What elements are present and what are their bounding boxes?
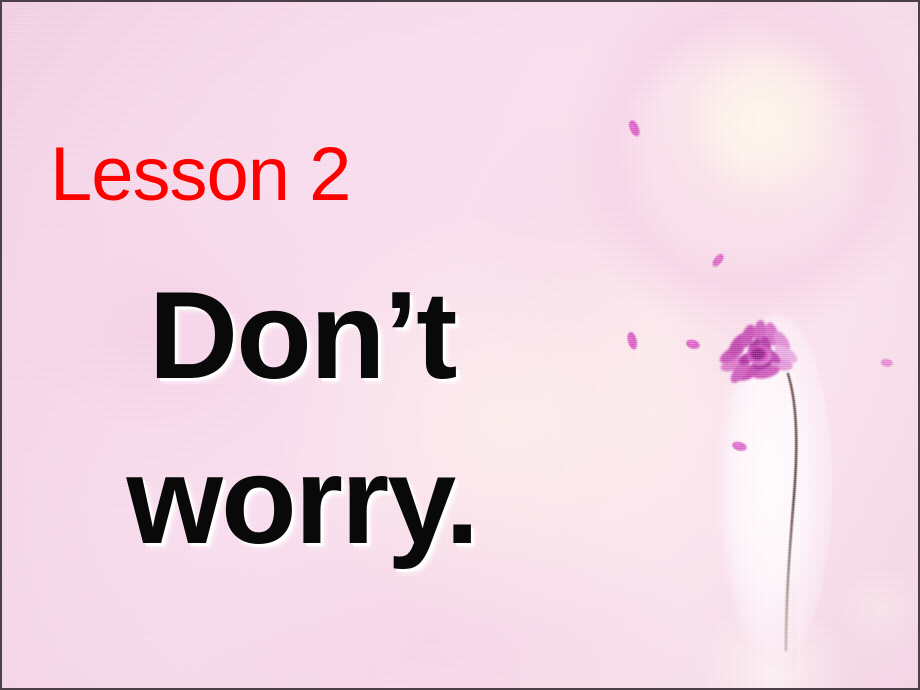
petal-fleck	[710, 252, 725, 269]
title-line-2: worry.	[2, 419, 602, 584]
presentation-slide: Lesson 2 Don’t worry.	[0, 0, 920, 690]
lesson-number-label: Lesson 2	[50, 137, 350, 213]
petal-fleck	[625, 331, 639, 351]
title-line-1: Don’t	[2, 254, 602, 419]
petal-fleck	[880, 358, 894, 369]
slide-title: Don’t worry.	[2, 254, 602, 584]
purple-daisy-photo	[702, 302, 862, 672]
petal-fleck	[627, 119, 643, 138]
petal-fleck	[685, 338, 701, 352]
flower-illustration	[702, 302, 862, 672]
